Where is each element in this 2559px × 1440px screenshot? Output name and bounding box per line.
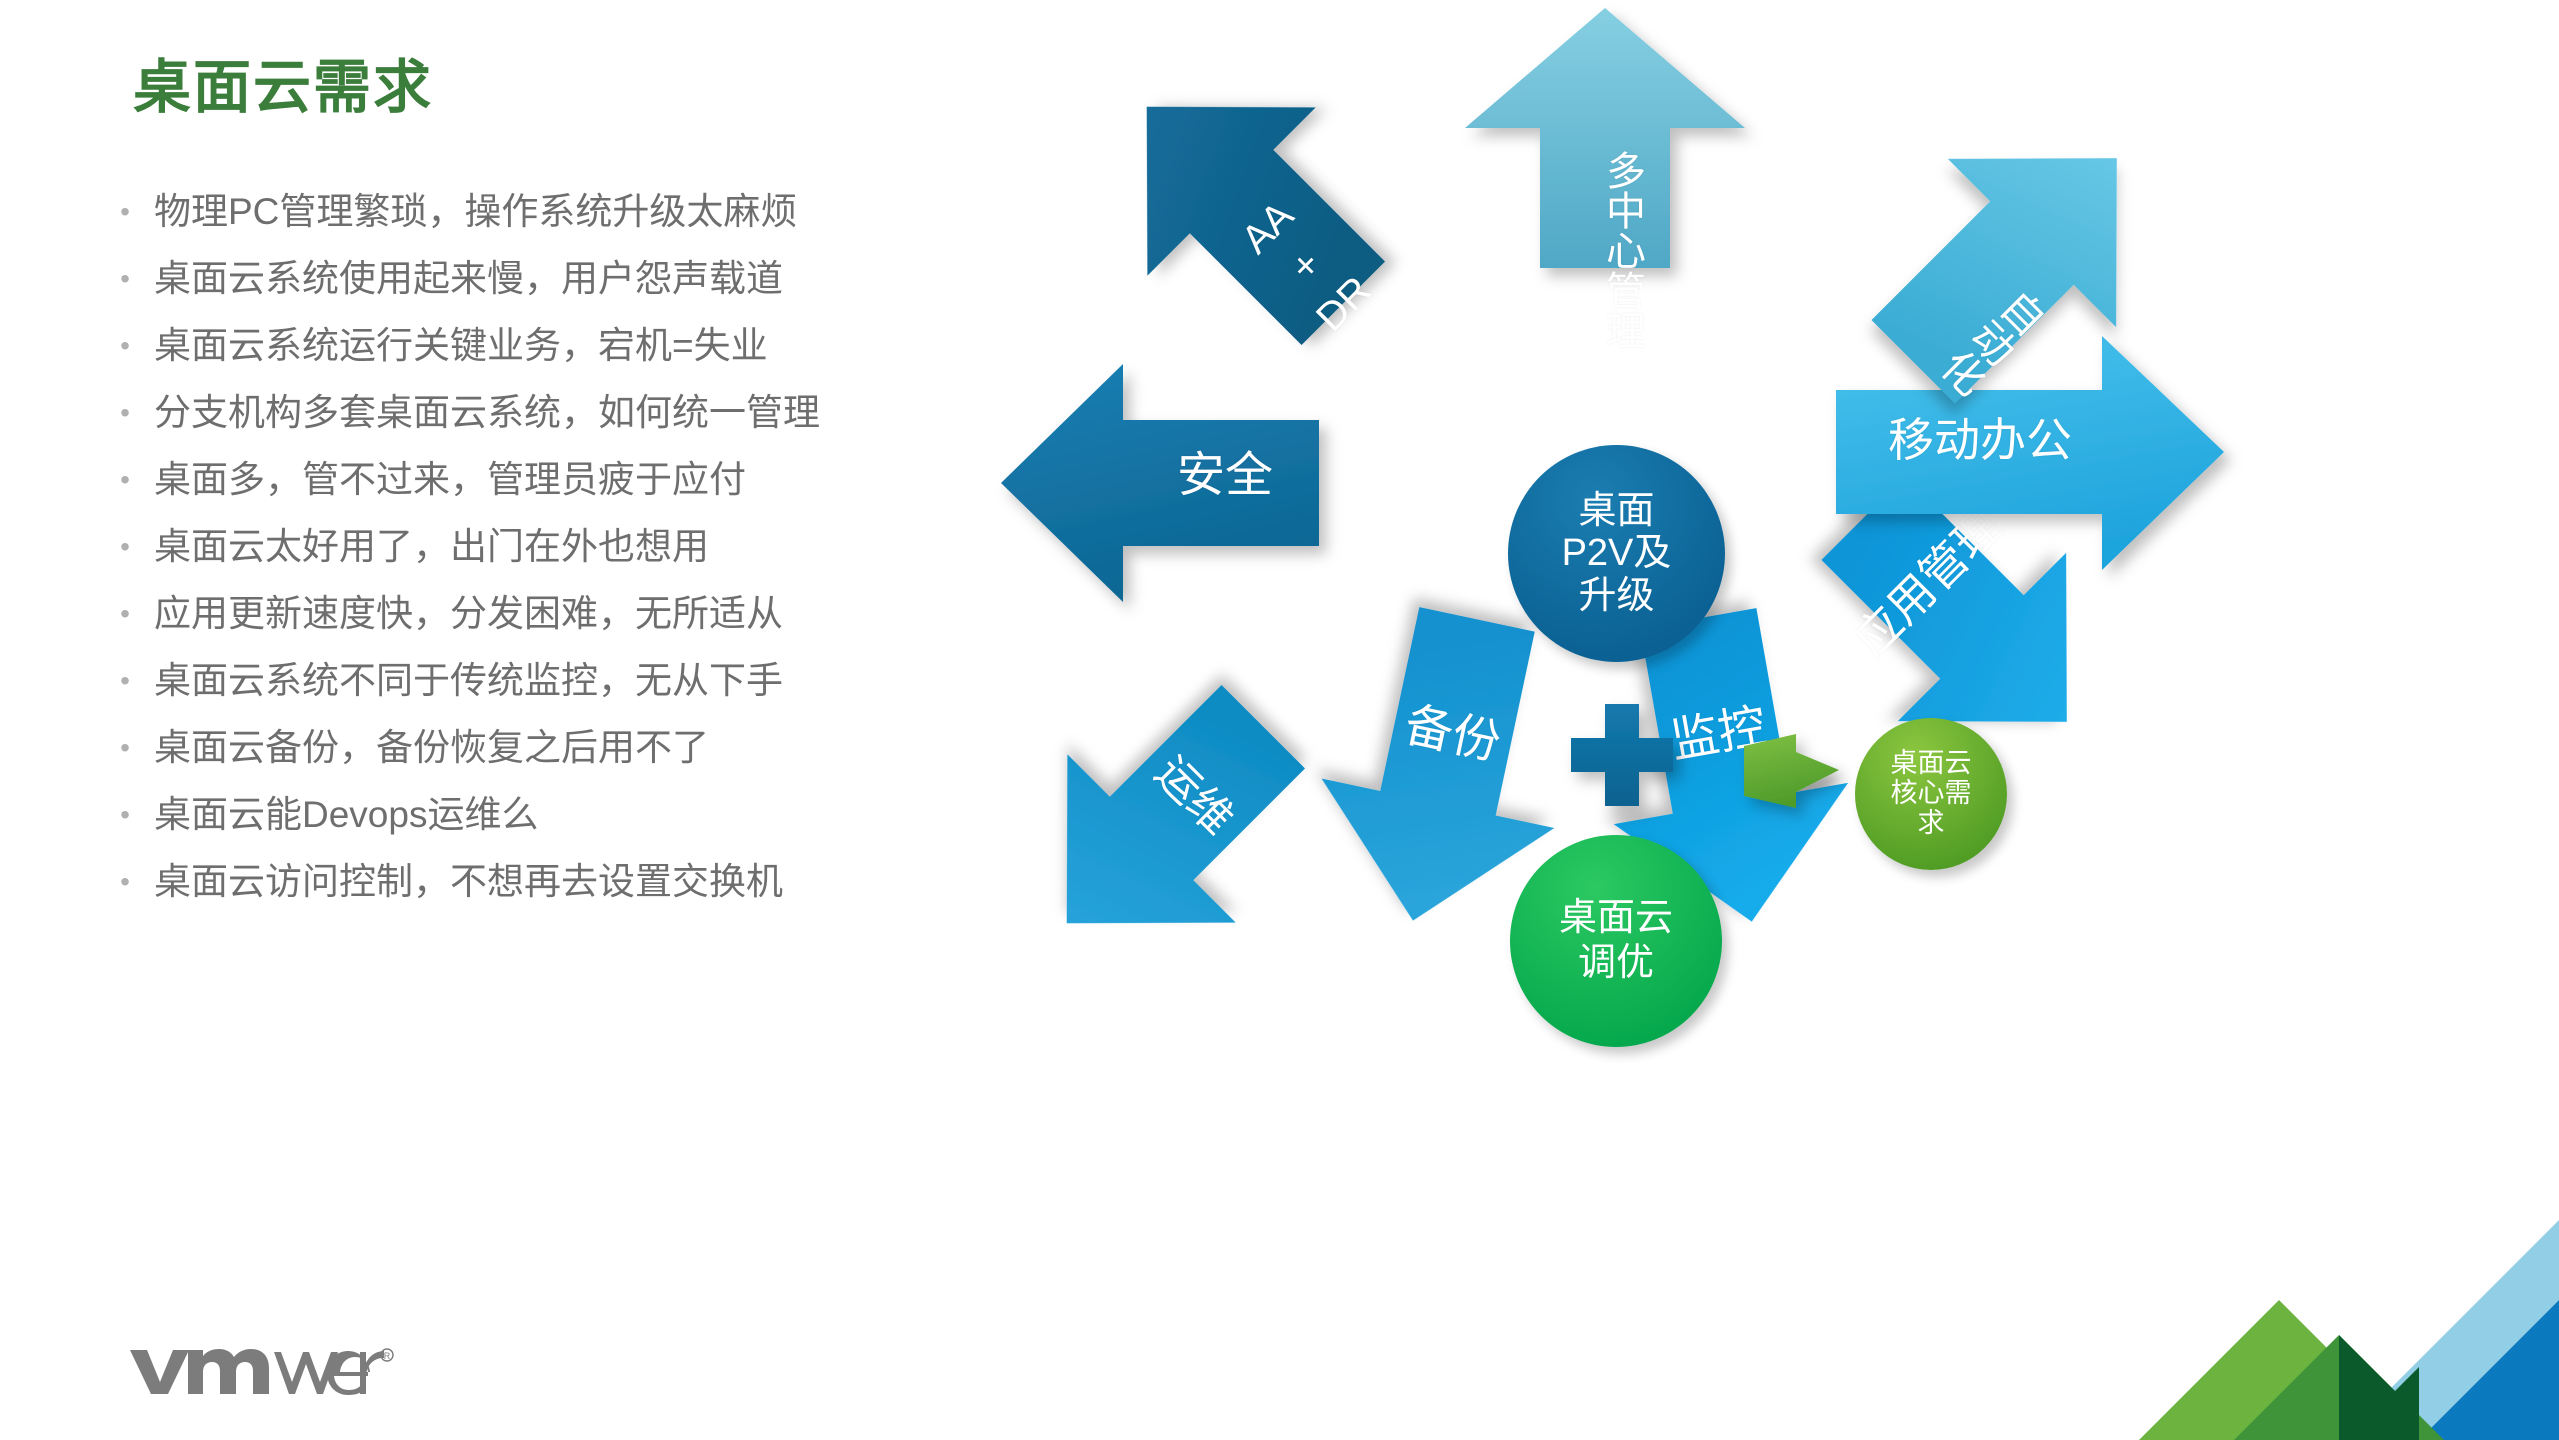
list-item-label: 应用更新速度快，分发困难，无所适从 bbox=[154, 580, 783, 647]
list-item: •物理PC管理繁琐，操作系统升级太麻烦 bbox=[118, 178, 1068, 245]
arrow-security[interactable]: 安全 bbox=[995, 358, 1325, 608]
arrow-multi-center[interactable]: 多中心管理 bbox=[1460, 0, 1750, 270]
list-item-label: 桌面云太好用了，出门在外也想用 bbox=[154, 513, 709, 580]
list-item-label: 物理PC管理繁琐，操作系统升级太麻烦 bbox=[154, 178, 797, 245]
list-item: •桌面云访问控制，不想再去设置交换机 bbox=[118, 848, 1068, 915]
list-item-label: 桌面云系统运行关键业务，宕机=失业 bbox=[154, 312, 768, 379]
bullet-dot-icon: • bbox=[118, 781, 132, 848]
center-node-core-requirement-label: 桌面云 核心需 求 bbox=[1891, 749, 1972, 838]
slide-canvas: 桌面云需求 •物理PC管理繁琐，操作系统升级太麻烦 •桌面云系统使用起来慢，用户… bbox=[0, 0, 2559, 1440]
bullet-dot-icon: • bbox=[118, 446, 132, 513]
arrow-aa-dr[interactable]: AA + DR bbox=[1054, 14, 1436, 396]
bullet-dot-icon: • bbox=[118, 848, 132, 915]
vmware-logo: R bbox=[128, 1340, 396, 1400]
list-item-label: 桌面云系统不同于传统监控，无从下手 bbox=[154, 647, 783, 714]
bullet-list: •物理PC管理繁琐，操作系统升级太麻烦 •桌面云系统使用起来慢，用户怨声载道 •… bbox=[118, 178, 1068, 915]
svg-text:R: R bbox=[384, 1351, 391, 1361]
bullet-dot-icon: • bbox=[118, 379, 132, 446]
bullet-dot-icon: • bbox=[118, 580, 132, 647]
page-title: 桌面云需求 bbox=[133, 40, 433, 124]
list-item-label: 桌面云备份，备份恢复之后用不了 bbox=[154, 714, 709, 781]
list-item: •桌面云系统不同于传统监控，无从下手 bbox=[118, 647, 1068, 714]
list-item: •分支机构多套桌面云系统，如何统一管理 bbox=[118, 379, 1068, 446]
list-item-label: 桌面云系统使用起来慢，用户怨声载道 bbox=[154, 245, 783, 312]
list-item: •桌面多，管不过来，管理员疲于应付 bbox=[118, 446, 1068, 513]
center-node-core-requirement[interactable]: 桌面云 核心需 求 bbox=[1855, 718, 2007, 870]
center-node-p2v-label: 桌面 P2V及 升级 bbox=[1562, 490, 1672, 618]
list-item: •桌面云备份，备份恢复之后用不了 bbox=[118, 714, 1068, 781]
bullet-dot-icon: • bbox=[118, 245, 132, 312]
plus-icon bbox=[1567, 700, 1677, 810]
right-arrow-icon bbox=[1740, 730, 1845, 812]
list-item: •桌面云系统运行关键业务，宕机=失业 bbox=[118, 312, 1068, 379]
list-item: •桌面云能Devops运维么 bbox=[118, 781, 1068, 848]
center-node-tuning-label: 桌面云 调优 bbox=[1559, 896, 1673, 986]
list-item-label: 分支机构多套桌面云系统，如何统一管理 bbox=[154, 379, 820, 446]
corner-decoration bbox=[2139, 1200, 2559, 1440]
bullet-dot-icon: • bbox=[118, 513, 132, 580]
arrow-security-label: 安全 bbox=[1145, 451, 1305, 502]
bullet-dot-icon: • bbox=[118, 312, 132, 379]
list-item-label: 桌面云访问控制，不想再去设置交换机 bbox=[154, 848, 783, 915]
center-node-p2v[interactable]: 桌面 P2V及 升级 bbox=[1508, 445, 1725, 662]
list-item-label: 桌面多，管不过来，管理员疲于应付 bbox=[154, 446, 746, 513]
bullet-dot-icon: • bbox=[118, 178, 132, 245]
bullet-dot-icon: • bbox=[118, 647, 132, 714]
arrow-multi-center-label: 多中心管理 bbox=[1572, 150, 1642, 350]
bullet-dot-icon: • bbox=[118, 714, 132, 781]
list-item: •桌面云系统使用起来慢，用户怨声载道 bbox=[118, 245, 1068, 312]
list-item-label: 桌面云能Devops运维么 bbox=[154, 781, 538, 848]
list-item: •应用更新速度快，分发困难，无所适从 bbox=[118, 580, 1068, 647]
list-item: •桌面云太好用了，出门在外也想用 bbox=[118, 513, 1068, 580]
center-node-tuning[interactable]: 桌面云 调优 bbox=[1510, 835, 1722, 1047]
